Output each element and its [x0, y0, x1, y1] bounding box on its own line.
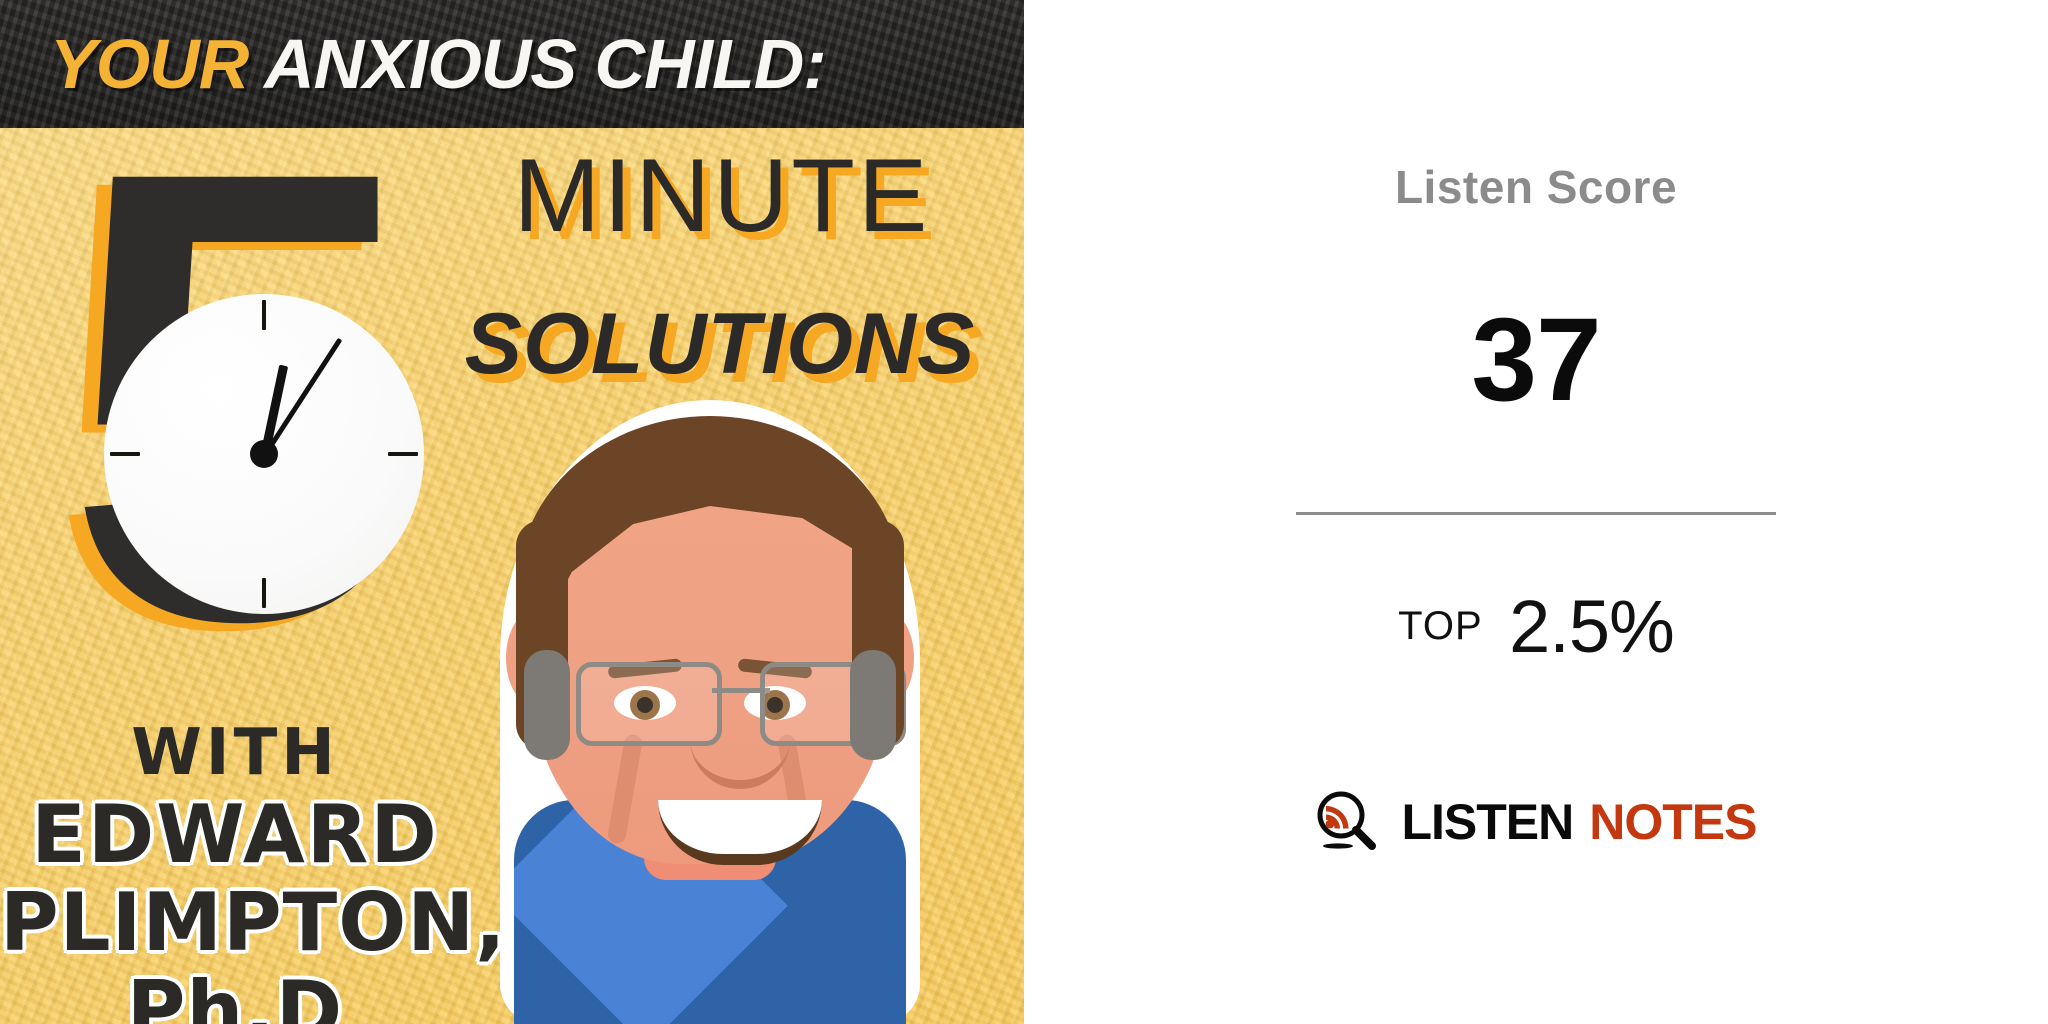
top-percentile-value: 2.5%	[1509, 585, 1674, 668]
host-nose	[690, 734, 790, 789]
clock-tick-12	[262, 300, 266, 330]
listen-score-label: Listen Score	[1024, 160, 2048, 214]
word-solutions: SOLUTIONS SOLUTIONS	[440, 292, 1000, 402]
listen-score-value: 37	[1024, 300, 2048, 420]
word-solutions-main: SOLUTIONS	[440, 292, 1000, 396]
host-sideburn-left	[524, 650, 570, 760]
top-percentile: TOP 2.5%	[1024, 584, 2048, 669]
clock-tick-3	[388, 452, 418, 456]
clock-tick-9	[110, 452, 140, 456]
credit-name-line2: PLIMPTON, Ph.D	[0, 879, 470, 1024]
brand-wordmark: LISTENNOTES	[1401, 794, 1756, 850]
credit-name-line1: EDWARD	[0, 791, 470, 879]
host-cheek-left	[607, 733, 644, 844]
word-minute-main: MINUTE	[452, 136, 992, 256]
divider	[1296, 512, 1776, 515]
score-panel: Listen Score 37 TOP 2.5%	[1024, 0, 2048, 1024]
credit-with-label: WITH	[0, 715, 470, 791]
word-minute: MINUTE MINUTE	[452, 136, 992, 256]
clock-tick-6	[262, 578, 266, 608]
rss-magnifier-icon	[1315, 790, 1379, 854]
top-percentile-label: TOP	[1398, 604, 1483, 648]
host-credit-block: WITH EDWARD PLIMPTON, Ph.D	[0, 715, 470, 1024]
listen-notes-logo[interactable]: LISTENNOTES	[1024, 790, 2048, 854]
clock-pivot	[250, 440, 278, 468]
podcast-cover-art[interactable]: YOUR ANXIOUS CHILD: 5 5 MINUTE MINUTE SO…	[0, 0, 1024, 1024]
host-sideburn-right	[850, 650, 896, 760]
listen-notes-score-card: YOUR ANXIOUS CHILD: 5 5 MINUTE MINUTE SO…	[0, 0, 2048, 1024]
brand-word-notes: NOTES	[1589, 794, 1756, 850]
host-illustration	[500, 400, 920, 1024]
clock-face-icon	[104, 294, 424, 614]
brand-word-listen: LISTEN	[1401, 794, 1573, 850]
big-five-numeral: 5 5	[8, 126, 478, 686]
score-panel-inner: Listen Score 37 TOP 2.5%	[1024, 0, 2048, 1024]
